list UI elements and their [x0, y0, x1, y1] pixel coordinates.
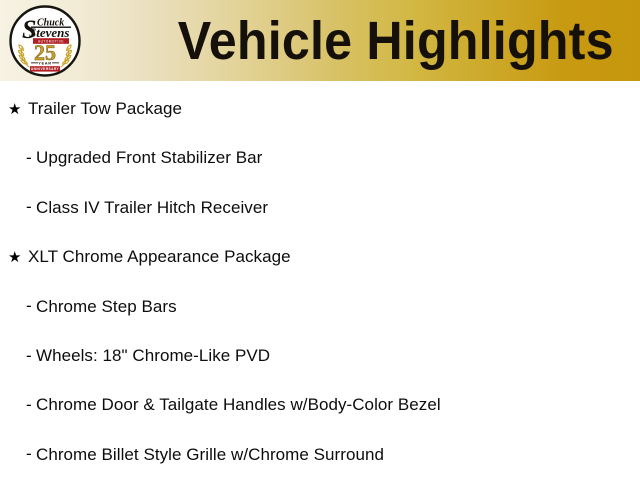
highlight-row: -Chrome Step Bars	[0, 294, 640, 320]
dash-bullet-icon: -	[26, 347, 36, 366]
vehicle-highlights-slide: Vehicle Highlights S Chuck Stevens AUTOM…	[0, 0, 640, 480]
dash-bullet-icon: -	[26, 198, 36, 217]
vehicle-highlights-list: ★Trailer Tow Package-Upgraded Front Stab…	[0, 81, 640, 480]
dash-bullet-icon: -	[26, 297, 36, 316]
highlight-text: Upgraded Front Stabilizer Bar	[36, 147, 262, 169]
dash-bullet-icon: -	[26, 445, 36, 464]
highlight-text: Chrome Step Bars	[36, 296, 177, 318]
highlight-row: -Upgraded Front Stabilizer Bar	[0, 145, 640, 171]
svg-text:ANNIVERSARY: ANNIVERSARY	[31, 67, 60, 71]
highlight-row: ★XLT Chrome Appearance Package	[0, 244, 640, 270]
svg-text:Stevens: Stevens	[29, 25, 69, 40]
star-bullet-icon: ★	[8, 101, 28, 117]
chuck-stevens-logo-icon: S Chuck Stevens AUTOMOTIVE	[9, 5, 81, 77]
highlight-text: Wheels: 18" Chrome-Like PVD	[36, 345, 270, 367]
svg-text:YEAR: YEAR	[38, 61, 52, 66]
highlight-text: Trailer Tow Package	[28, 98, 182, 120]
dash-bullet-icon: -	[26, 396, 36, 415]
dealer-logo: S Chuck Stevens AUTOMOTIVE	[9, 5, 81, 77]
highlight-text: XLT Chrome Appearance Package	[28, 246, 291, 268]
highlight-text: Class IV Trailer Hitch Receiver	[36, 197, 268, 219]
page-title: Vehicle Highlights	[178, 11, 614, 71]
highlight-text: Chrome Door & Tailgate Handles w/Body-Co…	[36, 394, 441, 416]
highlight-row: -Chrome Door & Tailgate Handles w/Body-C…	[0, 392, 640, 418]
highlight-text: Chrome Billet Style Grille w/Chrome Surr…	[36, 444, 384, 466]
highlight-row: -Chrome Billet Style Grille w/Chrome Sur…	[0, 442, 640, 468]
dash-bullet-icon: -	[26, 149, 36, 168]
highlight-row: -Class IV Trailer Hitch Receiver	[0, 195, 640, 221]
star-bullet-icon: ★	[8, 249, 28, 265]
highlight-row: -Wheels: 18" Chrome-Like PVD	[0, 343, 640, 369]
header-banner: Vehicle Highlights	[0, 0, 640, 81]
highlight-row: ★Trailer Tow Package	[0, 96, 640, 122]
